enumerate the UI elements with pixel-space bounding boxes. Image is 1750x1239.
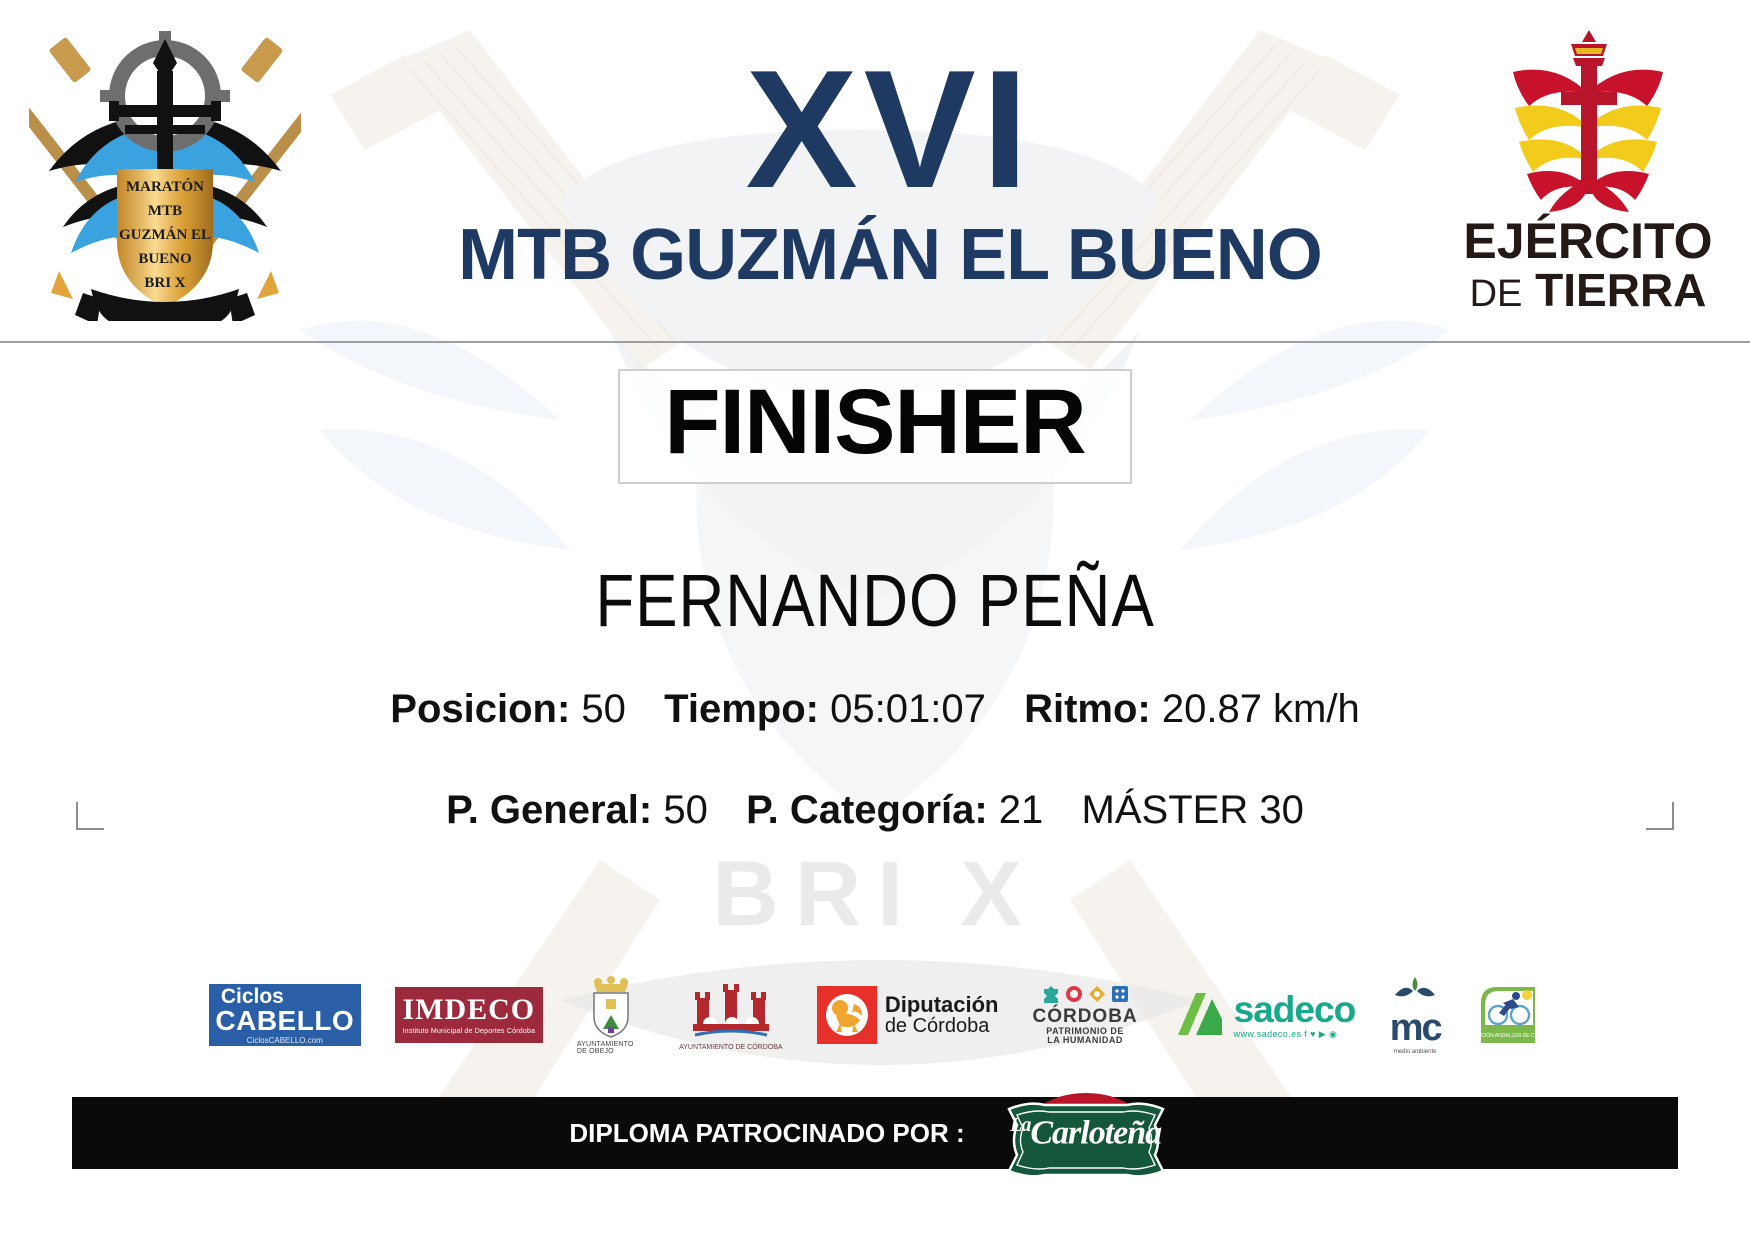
ejercito-de: DE xyxy=(1470,273,1523,315)
patrimonio-tiles xyxy=(1042,985,1129,1003)
patrimonio-line-1: CÓRDOBA xyxy=(1032,1007,1137,1027)
sadeco-name: sadeco xyxy=(1234,991,1356,1028)
finisher-banner: FINISHER xyxy=(0,369,1750,484)
ejercito-emblem-icon xyxy=(1493,26,1683,216)
diploma-header: MARATÓN MTB GUZMÁN EL BUENO BRI X XVI MT… xyxy=(0,0,1750,343)
tiempo-value: 05:01:07 xyxy=(830,687,986,731)
stats-row-2: P. General: 50 P. Categoría: 21 MÁSTER 3… xyxy=(0,788,1750,833)
maraton-crest-icon: MARATÓN MTB GUZMÁN EL BUENO BRI X xyxy=(29,21,301,321)
crest-line-3: GUZMÁN EL xyxy=(119,226,211,243)
diploma-page: BRI X xyxy=(0,0,1750,1239)
la-carlotena-logo: LaCarloteña xyxy=(991,1091,1181,1175)
crop-mark-right xyxy=(1646,802,1674,830)
diputacion-line-1: Diputación xyxy=(885,993,999,1016)
sponsor-ayuntamiento-cordoba: AYUNTAMIENTO DE CÓRDOBA xyxy=(679,980,783,1051)
mc-subtitle: medio ambiente xyxy=(1394,1049,1437,1055)
patrimonio-line-3: LA HUMANIDAD xyxy=(1047,1036,1123,1045)
crop-mark-left xyxy=(76,802,104,830)
sponsor-diputacion-cordoba: Diputación de Córdoba xyxy=(817,986,999,1044)
carlotena-name: Carloteña xyxy=(1030,1114,1161,1151)
cordoba-city-caption: AYUNTAMIENTO DE CÓRDOBA xyxy=(679,1044,782,1051)
race-name: MTB GUZMÁN EL BUENO xyxy=(458,219,1322,291)
mc-leaf-icon xyxy=(1389,975,1441,1009)
stats-row-1: Posicion: 50 Tiempo: 05:01:07 Ritmo: 20.… xyxy=(0,687,1750,732)
cordoba-city-icon xyxy=(687,980,775,1042)
cabello-line-2: CABELLO xyxy=(215,1007,354,1035)
sadeco-mark-icon xyxy=(1172,989,1226,1041)
categoria-name: MÁSTER 30 xyxy=(1082,788,1304,832)
ritmo-value: 20.87 km/h xyxy=(1162,687,1360,731)
sponsor-imdeco: IMDECO Instituto Municipal de Deportes C… xyxy=(395,987,543,1043)
imdeco-subtitle: Instituto Municipal de Deportes Córdoba xyxy=(402,1028,535,1035)
finisher-box: FINISHER xyxy=(618,369,1131,484)
p-categoria-value: 21 xyxy=(999,788,1044,832)
svg-text:BRI X: BRI X xyxy=(712,843,1037,945)
cabello-url: CiclosCABELLO.com xyxy=(247,1037,323,1045)
diputacion-lion-icon xyxy=(824,992,870,1038)
ejercito-line-1: EJÉRCITO xyxy=(1463,216,1712,266)
mc-name: mc xyxy=(1390,1009,1441,1047)
edition-number: XVI xyxy=(746,50,1035,210)
crest-line-1: MARATÓN xyxy=(126,178,204,195)
crest-line-4: BUENO xyxy=(138,251,191,267)
ritmo-label: Ritmo: xyxy=(1024,687,1151,731)
posicion-value: 50 xyxy=(581,687,626,731)
patrimonio-tile-yellow-icon xyxy=(1088,985,1106,1003)
federacion-ciclismo-icon: FEDERACIÓN ANDALUZA DE CICLISMO xyxy=(1475,981,1541,1049)
sponsor-mc: mc medio ambiente xyxy=(1389,975,1441,1055)
race-crest-logo: MARATÓN MTB GUZMÁN EL BUENO BRI X xyxy=(0,0,330,341)
diputacion-mark xyxy=(817,986,877,1044)
sponsor-ciclos-cabello: Ciclos CABELLO CiclosCABELLO.com xyxy=(209,984,361,1046)
footer-sponsor-text: DIPLOMA PATROCINADO POR : xyxy=(569,1118,964,1149)
athlete-name: FERNANDO PEÑA xyxy=(123,558,1628,643)
obejo-caption: AYUNTAMIENTO DE OBEJO xyxy=(577,1041,645,1055)
obejo-crest-icon xyxy=(582,975,640,1039)
athlete-block: FERNANDO PEÑA xyxy=(0,558,1750,643)
federacion-caption: FEDERACIÓN ANDALUZA DE CICLISMO xyxy=(1475,1032,1541,1039)
ejercito-line-2: TIERRA xyxy=(1535,264,1706,316)
diputacion-line-2: de Córdoba xyxy=(885,1016,999,1037)
patrimonio-tile-blue-icon xyxy=(1111,985,1129,1003)
crest-line-5: BRI X xyxy=(144,275,185,291)
imdeco-name: IMDECO xyxy=(402,995,535,1025)
crest-line-2: MTB xyxy=(148,203,182,219)
race-title-block: XVI MTB GUZMÁN EL BUENO xyxy=(330,0,1450,341)
ejercito-de-tierra-logo: EJÉRCITO DE TIERRA xyxy=(1450,0,1750,341)
footer-sponsor-bar: DIPLOMA PATROCINADO POR : LaCarloteña xyxy=(72,1097,1678,1169)
sponsor-federacion-andaluza-ciclismo: FEDERACIÓN ANDALUZA DE CICLISMO xyxy=(1475,981,1541,1049)
sponsor-row: Ciclos CABELLO CiclosCABELLO.com IMDECO … xyxy=(0,955,1750,1075)
sponsor-ayuntamiento-obejo: AYUNTAMIENTO DE OBEJO xyxy=(577,975,645,1055)
p-general-value: 50 xyxy=(663,788,708,832)
patrimonio-tile-teal-icon xyxy=(1042,985,1060,1003)
sponsor-sadeco: sadeco www.sadeco.es f ♥ ▶ ◉ xyxy=(1172,989,1356,1041)
carlotena-la: La xyxy=(1010,1114,1030,1136)
posicion-label: Posicion: xyxy=(390,687,570,731)
p-general-label: P. General: xyxy=(446,788,652,832)
patrimonio-tile-red-icon xyxy=(1065,985,1083,1003)
tiempo-label: Tiempo: xyxy=(664,687,819,731)
cabello-line-1: Ciclos xyxy=(221,986,284,1007)
sadeco-url: www.sadeco.es f ♥ ▶ ◉ xyxy=(1234,1030,1356,1039)
sponsor-cordoba-patrimonio: CÓRDOBA PATRIMONIO DE LA HUMANIDAD xyxy=(1032,985,1137,1046)
p-categoria-label: P. Categoría: xyxy=(746,788,988,832)
finisher-label: FINISHER xyxy=(664,373,1085,472)
